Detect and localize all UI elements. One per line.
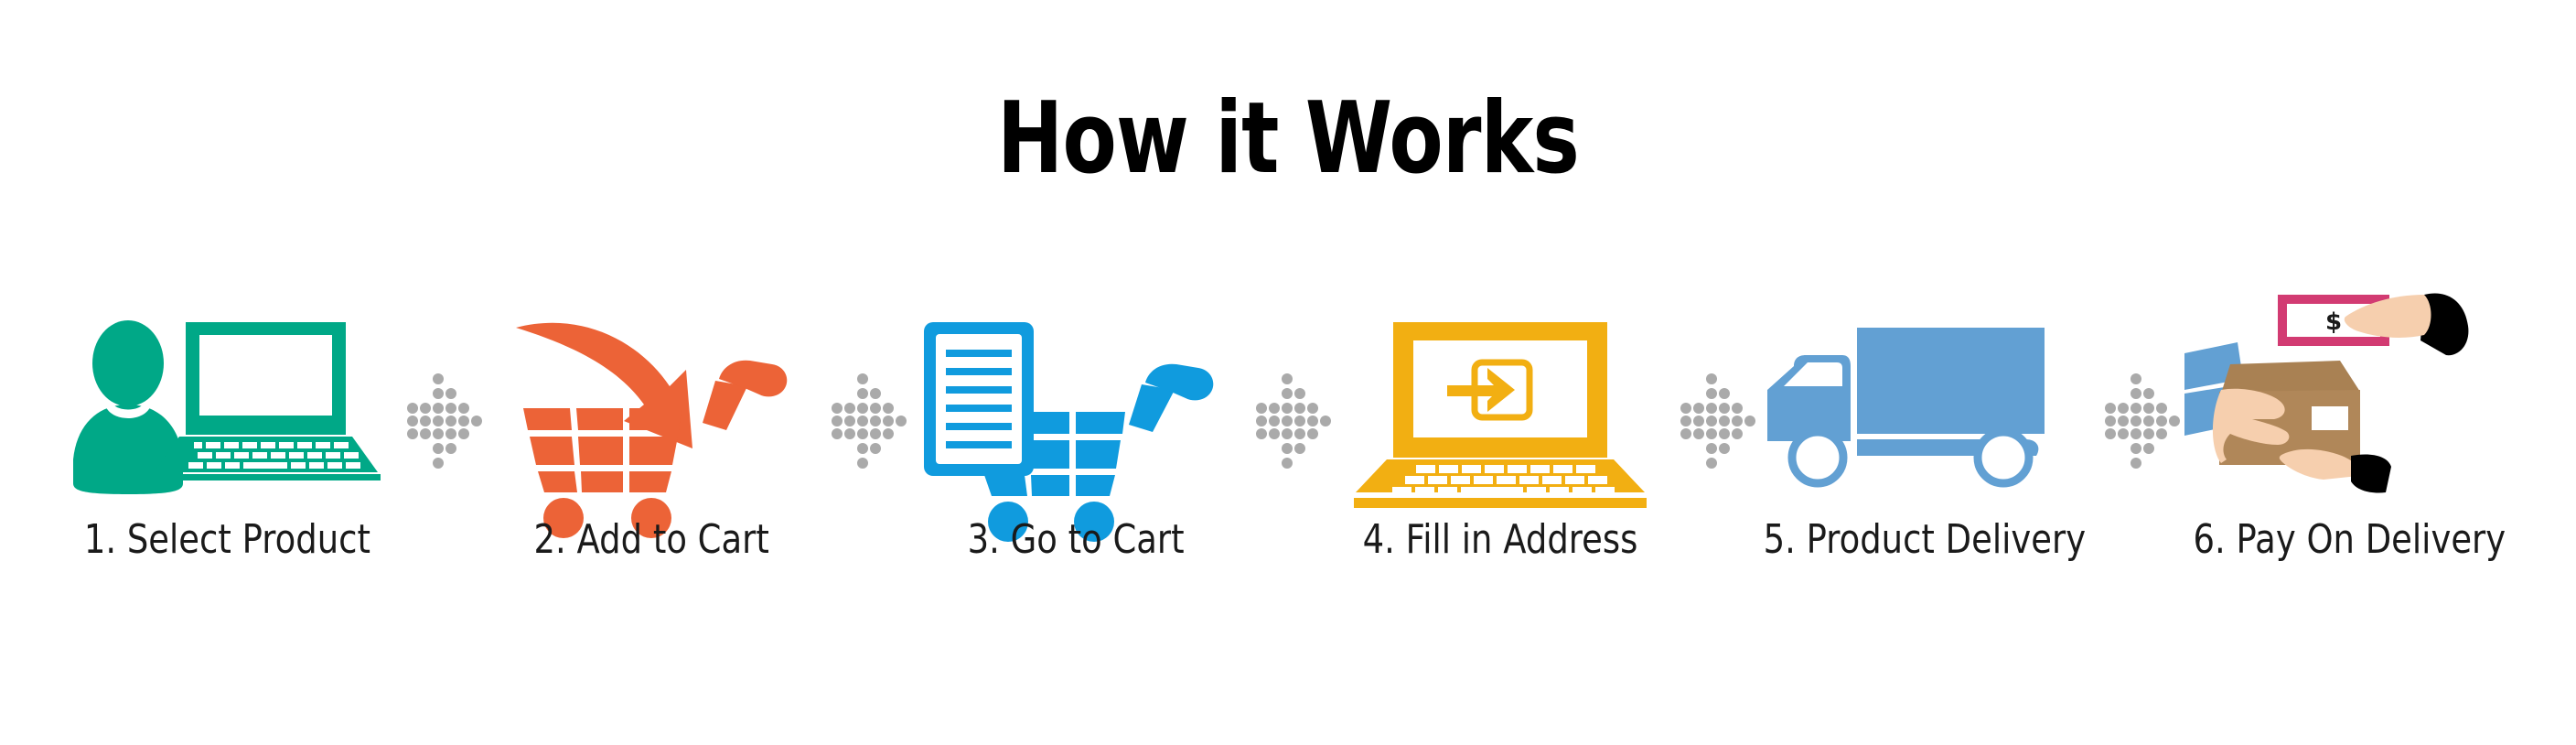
separator-2: [830, 302, 897, 494]
step-6-label: 6. Pay On Delivery: [2193, 516, 2506, 564]
step-2-icon-box: [487, 302, 816, 494]
step-4-icon-box: [1336, 302, 1665, 494]
steps-row: 1. Select Product: [0, 302, 2576, 686]
dotted-arrow-right-icon: [2103, 302, 2171, 494]
step-4-label: 4. Fill in Address: [1363, 516, 1638, 564]
hands-exchange-box-money-icon: $: [2184, 284, 2514, 494]
separator-4: [1679, 302, 1746, 494]
separator-1: [405, 302, 473, 494]
infographic-page: How it Works: [0, 0, 2576, 745]
dotted-arrow-right-icon: [1254, 302, 1322, 494]
step-1-icon-box: [62, 302, 392, 494]
step-3-label: 3. Go to Cart: [967, 516, 1184, 564]
step-5-product-delivery[interactable]: 5. Product Delivery: [1746, 302, 2103, 564]
step-2-add-to-cart[interactable]: 2. Add to Cart: [473, 302, 830, 564]
dollar-symbol: $: [2325, 308, 2342, 336]
step-1-label: 1. Select Product: [83, 516, 370, 564]
dotted-arrow-right-icon: [830, 302, 897, 494]
page-title: How it Works: [258, 88, 2319, 190]
step-1-select-product[interactable]: 1. Select Product: [48, 302, 405, 564]
separator-5: [2103, 302, 2171, 494]
step-3-icon-box: [911, 302, 1240, 494]
person-with-laptop-icon: [62, 302, 392, 494]
separator-3: [1254, 302, 1322, 494]
document-with-cart-icon: [911, 302, 1240, 494]
step-6-icon-box: $: [2184, 302, 2514, 494]
delivery-truck-icon: [1760, 302, 2089, 494]
step-3-go-to-cart[interactable]: 3. Go to Cart: [897, 302, 1254, 564]
step-4-fill-in-address[interactable]: 4. Fill in Address: [1322, 302, 1679, 564]
step-5-icon-box: [1760, 302, 2089, 494]
cart-with-arrow-icon: [487, 302, 816, 494]
step-2-label: 2. Add to Cart: [533, 516, 768, 564]
step-5-label: 5. Product Delivery: [1764, 516, 2087, 564]
dotted-arrow-right-icon: [405, 302, 473, 494]
laptop-with-login-icon: [1336, 302, 1665, 494]
dotted-arrow-right-icon: [1679, 302, 1746, 494]
step-6-pay-on-delivery[interactable]: $: [2171, 302, 2528, 564]
